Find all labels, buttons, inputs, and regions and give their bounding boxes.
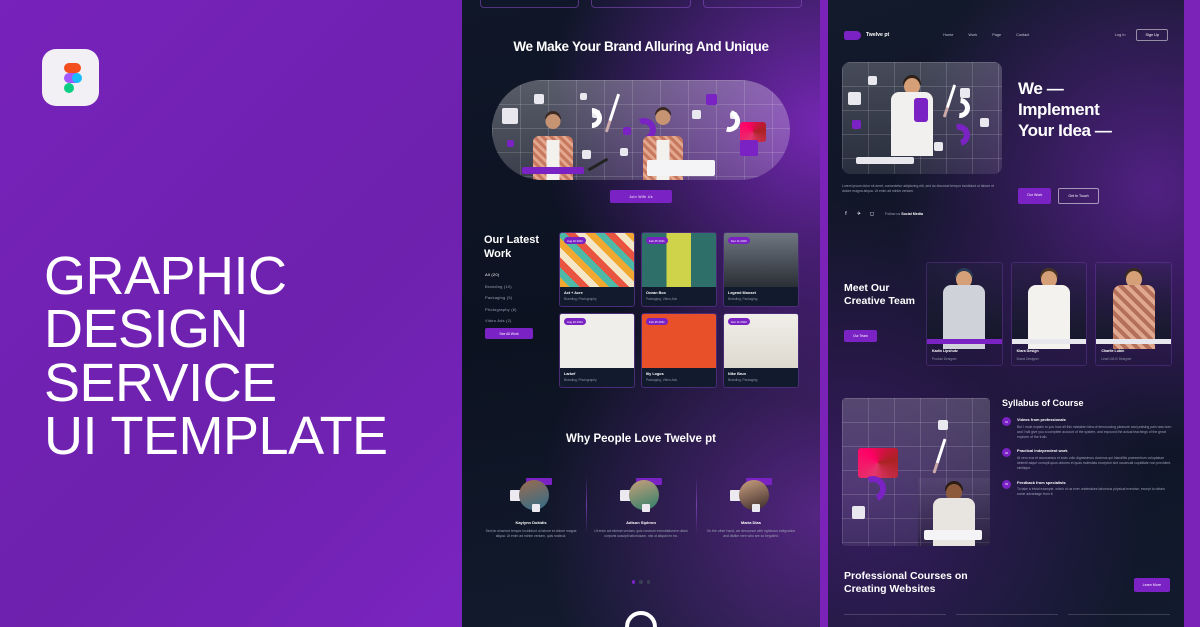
- dot-2[interactable]: [639, 580, 643, 584]
- testimonial-quote: On the other hand, we denounce with righ…: [704, 529, 798, 540]
- syllabus-number: 02: [1002, 448, 1011, 457]
- nav-menu: Home Work Page Contact: [943, 33, 1029, 37]
- filter-item-photography[interactable]: Photography (6): [485, 307, 547, 312]
- syllabus-item-body: At vero eos et accusamus et iusto odio d…: [1017, 456, 1172, 472]
- nav-item-home[interactable]: Home: [943, 33, 953, 37]
- testimonial-item: Kaylynn Dokidis Sed do eiusmod tempor in…: [476, 478, 586, 540]
- hero-headline-a: We Make Your Brand Alluring And Unique: [462, 38, 820, 56]
- work-subtitle: Branding, Photography: [564, 297, 630, 301]
- member-role: Brand Designer: [1017, 357, 1039, 361]
- logo-mark-icon: [844, 31, 861, 40]
- work-badge: Dec 11 2020: [728, 318, 750, 325]
- work-subtitle: Packaging, Video Ads: [646, 378, 712, 382]
- see-all-work-button[interactable]: See All Work: [485, 328, 533, 339]
- syllabus-item: 03 Feedback from specialists To take a t…: [1002, 480, 1172, 498]
- figma-logo-icon: [42, 49, 99, 106]
- syllabus-item-title: Practical independent work: [1017, 448, 1172, 453]
- work-badge: Feb 25 2021: [646, 237, 668, 244]
- work-title: Nike Brun: [728, 372, 794, 376]
- title-line-2: DESIGN: [44, 303, 444, 356]
- mockup-preview-b: Twelve pt Home Work Page Contact Log In …: [828, 0, 1184, 627]
- member-name: Charlie Lubin: [1101, 349, 1124, 353]
- filter-item-packaging[interactable]: Packaging (5): [485, 295, 547, 300]
- hero-illustration-b: [842, 62, 1002, 174]
- work-title: Legend Mooset: [728, 291, 794, 295]
- work-title: Larkef: [564, 372, 630, 376]
- testimonial-item: Maria Dias On the other hand, we denounc…: [696, 478, 806, 540]
- dot-1[interactable]: [632, 580, 636, 584]
- filter-item-branding[interactable]: Branding (10): [485, 284, 547, 289]
- learn-more-button[interactable]: Learn More: [1134, 578, 1170, 592]
- work-filter-list[interactable]: All (20) Branding (10) Packaging (5) Pho…: [485, 272, 547, 330]
- syllabus-item-title: Videos from professionals: [1017, 417, 1172, 422]
- work-badge: Dec 11 2020: [728, 237, 750, 244]
- headline-line-1: We —: [1018, 78, 1178, 99]
- member-name: Kadin Lipshutz: [932, 349, 958, 353]
- testimonial-quote: Sed do eiusmod tempor incididunt ut labo…: [484, 529, 578, 540]
- syllabus-item-body: To take a trivial example, which of us e…: [1017, 487, 1172, 498]
- partial-cards-top: [480, 0, 802, 8]
- brand-panel: GRAPHIC DESIGN SERVICE UI TEMPLATE: [0, 0, 462, 627]
- work-card[interactable]: Dec 11 2020 Nike Brun Branding, Packagin…: [723, 313, 799, 388]
- brand-name: Twelve pt: [866, 32, 889, 38]
- team-member-card[interactable]: Kiara Design Brand Designer: [1011, 262, 1088, 366]
- footer-title: Professional Courses on Creating Website…: [844, 570, 1004, 597]
- work-card-grid: Aug 10 2021 Act + Acre Branding, Photogr…: [559, 232, 799, 388]
- testimonial-list: Kaylynn Dokidis Sed do eiusmod tempor in…: [476, 478, 806, 540]
- navbar: Twelve pt Home Work Page Contact Log In …: [844, 28, 1168, 42]
- title-line-1: GRAPHIC: [44, 250, 444, 303]
- instagram-icon[interactable]: ◻: [868, 210, 876, 218]
- syllabus-item-body: But I must explain to you how all this m…: [1017, 425, 1172, 441]
- testimonial-name: Kaylynn Dokidis: [484, 520, 578, 525]
- testimonials-title: Why People Love Twelve pt: [462, 432, 820, 447]
- testimonial-item: Adison Siphron Ut enim ad minima veniam,…: [586, 478, 696, 540]
- work-badge: Feb 25 2021: [646, 318, 668, 325]
- work-subtitle: Packaging, Video Ads: [646, 297, 712, 301]
- syllabus-number: 01: [1002, 417, 1011, 426]
- social-label: Follow us Social Media: [885, 212, 923, 216]
- nav-item-contact[interactable]: Contact: [1016, 33, 1029, 37]
- headline-line-2: Implement: [1018, 99, 1178, 120]
- our-work-button[interactable]: Our Work: [1018, 188, 1051, 204]
- poster-canvas: GRAPHIC DESIGN SERVICE UI TEMPLATE We Ma…: [0, 0, 1200, 627]
- syllabus-section: Syllabus of Course 01 Videos from profes…: [1002, 398, 1172, 506]
- work-card[interactable]: Aug 10 2021 Act + Acre Branding, Photogr…: [559, 232, 635, 307]
- nav-item-work[interactable]: Work: [968, 33, 977, 37]
- member-role: Product Designer: [932, 357, 957, 361]
- avatar: [620, 478, 662, 512]
- team-member-card[interactable]: Kadin Lipshutz Product Designer: [926, 262, 1003, 366]
- page-title: GRAPHIC DESIGN SERVICE UI TEMPLATE: [44, 250, 444, 464]
- work-subtitle: Branding, Packaging: [728, 297, 794, 301]
- mockup-preview-a: We Make Your Brand Alluring And Unique: [462, 0, 820, 627]
- work-title: Act + Acre: [564, 291, 630, 295]
- carousel-dots[interactable]: [462, 580, 820, 584]
- brand-logo[interactable]: Twelve pt: [844, 31, 889, 40]
- team-member-list: Kadin Lipshutz Product Designer Kiara De…: [926, 262, 1172, 366]
- title-line-4: UI TEMPLATE: [44, 410, 444, 463]
- work-card[interactable]: Feb 25 2021 Ocean Box Packaging, Video A…: [641, 232, 717, 307]
- avatar: [510, 478, 552, 512]
- testimonial-quote: Ut enim ad minima veniam, quis nostrum e…: [594, 529, 688, 540]
- get-in-touch-button[interactable]: Get In Touch: [1058, 188, 1098, 204]
- filter-item-video-ads[interactable]: Video Ads (2): [485, 318, 547, 323]
- social-row: f ✈ ◻ Follow us Social Media: [842, 210, 923, 218]
- hero-cta-button-a[interactable]: Join With Us: [610, 190, 672, 203]
- hero-headline-b: We — Implement Your Idea —: [1018, 78, 1178, 141]
- nav-item-page[interactable]: Page: [992, 33, 1001, 37]
- hero-illustration-a: [492, 80, 790, 180]
- title-line-3: SERVICE: [44, 357, 444, 410]
- hero-cta-group: Our Work Get In Touch: [1018, 188, 1099, 204]
- syllabus-title: Syllabus of Course: [1002, 398, 1172, 408]
- signup-button[interactable]: Sign Up: [1136, 29, 1168, 41]
- syllabus-number: 03: [1002, 480, 1011, 489]
- work-subtitle: Branding, Photography: [564, 378, 630, 382]
- work-card[interactable]: Aug 10 2021 Larkef Branding, Photography: [559, 313, 635, 388]
- testimonial-name: Adison Siphron: [594, 520, 688, 525]
- work-title: Illy Logos: [646, 372, 712, 376]
- team-title: Meet Our Creative Team: [844, 282, 916, 308]
- work-card[interactable]: Feb 25 2021 Illy Logos Packaging, Video …: [641, 313, 717, 388]
- work-subtitle: Branding, Packaging: [728, 378, 794, 382]
- footer-columns: [844, 614, 1170, 620]
- login-link[interactable]: Log In: [1115, 33, 1126, 37]
- member-role: Lead UI/UX Designer: [1101, 357, 1131, 361]
- work-card[interactable]: Dec 11 2020 Legend Mooset Branding, Pack…: [723, 232, 799, 307]
- hero-paragraph: Lorem ipsum dolor sit amet, consectetur …: [842, 184, 1002, 195]
- syllabus-item: 02 Practical independent work At vero eo…: [1002, 448, 1172, 471]
- latest-work-title: Our Latest Work: [484, 234, 554, 262]
- work-badge: Aug 10 2021: [564, 237, 586, 244]
- filter-item-all[interactable]: All (20): [485, 272, 547, 277]
- syllabus-item: 01 Videos from professionals But I must …: [1002, 417, 1172, 440]
- member-name: Kiara Design: [1017, 349, 1039, 353]
- work-badge: Aug 10 2021: [564, 318, 586, 325]
- twitter-icon[interactable]: ✈: [855, 210, 863, 218]
- work-title: Ocean Box: [646, 291, 712, 295]
- auth-actions: Log In Sign Up: [1115, 29, 1168, 41]
- syllabus-item-title: Feedback from specialists: [1017, 480, 1172, 485]
- team-member-card[interactable]: Charlie Lubin Lead UI/UX Designer: [1095, 262, 1172, 366]
- our-team-button[interactable]: Our Team: [844, 330, 877, 342]
- headline-line-3: Your Idea —: [1018, 120, 1178, 141]
- facebook-icon[interactable]: f: [842, 210, 850, 218]
- dot-3[interactable]: [647, 580, 651, 584]
- syllabus-illustration: [842, 398, 990, 546]
- testimonial-name: Maria Dias: [704, 520, 798, 525]
- avatar: [730, 478, 772, 512]
